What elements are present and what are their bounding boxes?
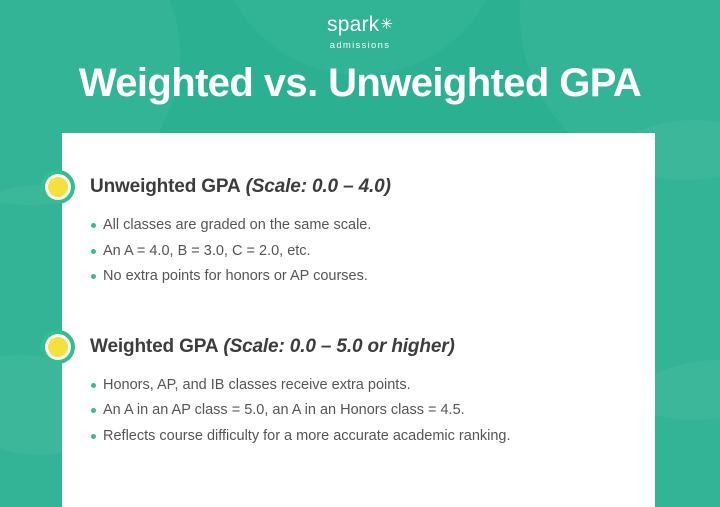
section-title-text: Unweighted GPA <box>90 176 241 197</box>
list-item: An A = 4.0, B = 3.0, C = 2.0, etc. <box>91 244 720 259</box>
section-bullet-list: All classes are graded on the same scale… <box>0 218 720 284</box>
spark-star-icon: ✳ <box>380 16 393 33</box>
bullet-dot-icon <box>91 408 96 413</box>
list-item: Honors, AP, and IB classes receive extra… <box>91 378 720 393</box>
bullet-dot-icon <box>91 223 96 228</box>
section-scale-text: (Scale: 0.0 – 5.0 or higher) <box>223 336 454 357</box>
list-item-text: Honors, AP, and IB classes receive extra… <box>103 377 411 393</box>
section-weighted-gpa: Weighted GPA(Scale: 0.0 – 5.0 or higher)… <box>0 328 720 444</box>
bullet-dot-icon <box>91 434 96 439</box>
marker-core-dot <box>48 337 68 357</box>
list-item-text: An A in an AP class = 5.0, an A in an Ho… <box>103 402 465 418</box>
brand-logo-wordmark: spark✳ <box>0 14 720 36</box>
bullet-dot-icon <box>91 274 96 279</box>
bullet-dot-icon <box>91 249 96 254</box>
section-scale-text: (Scale: 0.0 – 4.0) <box>246 176 391 197</box>
section-title-text: Weighted GPA <box>90 336 218 357</box>
brand-tagline: admissions <box>0 41 720 51</box>
section-bullet-marker-icon <box>41 330 75 364</box>
section-bullet-marker-icon <box>41 170 75 204</box>
page-title: Weighted vs. Unweighted GPA <box>0 62 720 105</box>
list-item-text: All classes are graded on the same scale… <box>103 217 371 233</box>
list-item: An A in an AP class = 5.0, an A in an Ho… <box>91 403 720 418</box>
marker-inner-ring <box>45 174 71 200</box>
section-header: Weighted GPA(Scale: 0.0 – 5.0 or higher) <box>0 328 720 366</box>
section-unweighted-gpa: Unweighted GPA(Scale: 0.0 – 4.0) All cla… <box>0 168 720 284</box>
list-item: No extra points for honors or AP courses… <box>91 269 720 284</box>
bullet-dot-icon <box>91 383 96 388</box>
section-title: Unweighted GPA(Scale: 0.0 – 4.0) <box>90 176 391 198</box>
infographic-poster: spark✳ admissions Weighted vs. Unweighte… <box>0 0 720 507</box>
section-bullet-list: Honors, AP, and IB classes receive extra… <box>0 378 720 444</box>
brand-logo: spark✳ admissions <box>0 14 720 51</box>
marker-inner-ring <box>45 334 71 360</box>
list-item-text: Reflects course difficulty for a more ac… <box>103 428 511 444</box>
brand-name: spark <box>327 14 379 35</box>
section-title: Weighted GPA(Scale: 0.0 – 5.0 or higher) <box>90 336 455 358</box>
list-item: Reflects course difficulty for a more ac… <box>91 429 720 444</box>
list-item-text: An A = 4.0, B = 3.0, C = 2.0, etc. <box>103 243 311 259</box>
list-item-text: No extra points for honors or AP courses… <box>103 268 368 284</box>
section-header: Unweighted GPA(Scale: 0.0 – 4.0) <box>0 168 720 206</box>
marker-core-dot <box>48 177 68 197</box>
list-item: All classes are graded on the same scale… <box>91 218 720 233</box>
